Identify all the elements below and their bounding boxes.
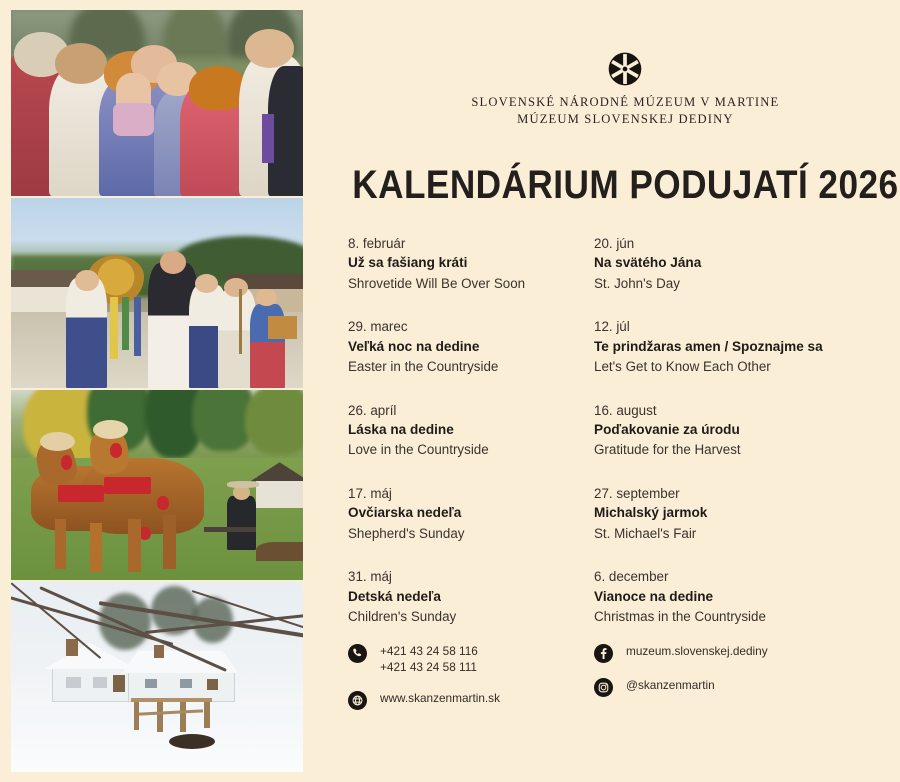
brand-block: SLOVENSKÉ NÁRODNÉ MÚZEUM V MARTINE MÚZEU… bbox=[315, 52, 900, 127]
event-title-en: Gratitude for the Harvest bbox=[594, 440, 900, 459]
event-title-en: Shrovetide Will Be Over Soon bbox=[348, 274, 594, 293]
event-date: 6. december bbox=[594, 567, 900, 586]
event-title-sk: Veľká noc na dedine bbox=[348, 337, 594, 357]
events-column-left: 8. február Už sa fašiang kráti Shrovetid… bbox=[348, 234, 594, 650]
event-title-en: Shepherd's Sunday bbox=[348, 524, 594, 543]
phone-icon bbox=[348, 644, 367, 663]
event-item: 6. december Vianoce na dedine Christmas … bbox=[594, 567, 900, 626]
phone-number-1: +421 43 24 58 116 bbox=[380, 644, 478, 658]
event-date: 31. máj bbox=[348, 567, 594, 586]
event-item: 29. marec Veľká noc na dedine Easter in … bbox=[348, 317, 594, 376]
phone-row[interactable]: +421 43 24 58 116 +421 43 24 58 111 bbox=[348, 643, 594, 677]
decorated-horses-ploughing-photo bbox=[11, 390, 303, 580]
event-item: 20. jún Na svätého Jána St. John's Day bbox=[594, 234, 900, 293]
instagram-icon bbox=[594, 678, 613, 697]
snowy-village-cottages-photo bbox=[11, 582, 303, 772]
event-item: 27. september Michalský jarmok St. Micha… bbox=[594, 484, 900, 543]
event-title-sk: Už sa fašiang kráti bbox=[348, 253, 594, 273]
event-item: 26. apríl Láska na dedine Love in the Co… bbox=[348, 401, 594, 460]
event-date: 12. júl bbox=[594, 317, 900, 336]
event-title-sk: Detská nedeľa bbox=[348, 587, 594, 607]
children-in-folk-costume-photo bbox=[11, 10, 303, 196]
event-title-sk: Poďakovanie za úrodu bbox=[594, 420, 900, 440]
event-title-en: Children's Sunday bbox=[348, 607, 594, 626]
event-title-en: Love in the Countryside bbox=[348, 440, 594, 459]
event-date: 16. august bbox=[594, 401, 900, 420]
phone-numbers: +421 43 24 58 116 +421 43 24 58 111 bbox=[380, 643, 478, 677]
museum-name-line1: SLOVENSKÉ NÁRODNÉ MÚZEUM V MARTINE bbox=[315, 94, 900, 111]
event-date: 29. marec bbox=[348, 317, 594, 336]
event-title-en: St. Michael's Fair bbox=[594, 524, 900, 543]
events-column-right: 20. jún Na svätého Jána St. John's Day 1… bbox=[594, 234, 900, 650]
event-date: 8. február bbox=[348, 234, 594, 253]
event-title-sk: Michalský jarmok bbox=[594, 503, 900, 523]
website-row[interactable]: www.skanzenmartin.sk bbox=[348, 690, 594, 710]
event-title-en: Easter in the Countryside bbox=[348, 357, 594, 376]
event-title-sk: Te prindžaras amen / Spoznajme sa bbox=[594, 337, 900, 357]
photo-strip bbox=[11, 10, 303, 772]
event-title-sk: Láska na dedine bbox=[348, 420, 594, 440]
facebook-handle: muzeum.slovenskej.dediny bbox=[626, 643, 768, 660]
event-date: 26. apríl bbox=[348, 401, 594, 420]
event-title-en: St. John's Day bbox=[594, 274, 900, 293]
event-title-sk: Ovčiarska nedeľa bbox=[348, 503, 594, 523]
contact-column-left: +421 43 24 58 116 +421 43 24 58 111 bbox=[348, 643, 594, 711]
content-panel: SLOVENSKÉ NÁRODNÉ MÚZEUM V MARTINE MÚZEU… bbox=[303, 0, 900, 782]
facebook-icon bbox=[594, 644, 613, 663]
harvest-procession-photo bbox=[11, 198, 303, 388]
six-spoke-star-medallion-icon bbox=[608, 52, 642, 86]
globe-icon bbox=[348, 691, 367, 710]
event-title-en: Christmas in the Countryside bbox=[594, 607, 900, 626]
poster: SLOVENSKÉ NÁRODNÉ MÚZEUM V MARTINE MÚZEU… bbox=[0, 0, 900, 782]
contact-footer: +421 43 24 58 116 +421 43 24 58 111 bbox=[348, 643, 868, 711]
instagram-handle: @skanzenmartin bbox=[626, 677, 715, 694]
museum-name-line2: MÚZEUM SLOVENSKEJ DEDINY bbox=[315, 111, 900, 128]
page-title: KALENDÁRIUM PODUJATÍ 2026 bbox=[352, 163, 898, 208]
event-item: 16. august Poďakovanie za úrodu Gratitud… bbox=[594, 401, 900, 460]
events-grid: 8. február Už sa fašiang kráti Shrovetid… bbox=[315, 234, 900, 650]
event-item: 8. február Už sa fašiang kráti Shrovetid… bbox=[348, 234, 594, 293]
event-title-en: Let's Get to Know Each Other bbox=[594, 357, 900, 376]
event-date: 20. jún bbox=[594, 234, 900, 253]
event-title-sk: Vianoce na dedine bbox=[594, 587, 900, 607]
event-date: 17. máj bbox=[348, 484, 594, 503]
phone-number-2: +421 43 24 58 111 bbox=[380, 660, 477, 674]
event-title-sk: Na svätého Jána bbox=[594, 253, 900, 273]
facebook-row[interactable]: muzeum.slovenskej.dediny bbox=[594, 643, 868, 663]
event-item: 31. máj Detská nedeľa Children's Sunday bbox=[348, 567, 594, 626]
event-date: 27. september bbox=[594, 484, 900, 503]
event-item: 17. máj Ovčiarska nedeľa Shepherd's Sund… bbox=[348, 484, 594, 543]
contact-column-right: muzeum.slovenskej.dediny @skanzenmartin bbox=[594, 643, 868, 711]
website-url: www.skanzenmartin.sk bbox=[380, 690, 500, 707]
event-item: 12. júl Te prindžaras amen / Spoznajme s… bbox=[594, 317, 900, 376]
instagram-row[interactable]: @skanzenmartin bbox=[594, 677, 868, 697]
